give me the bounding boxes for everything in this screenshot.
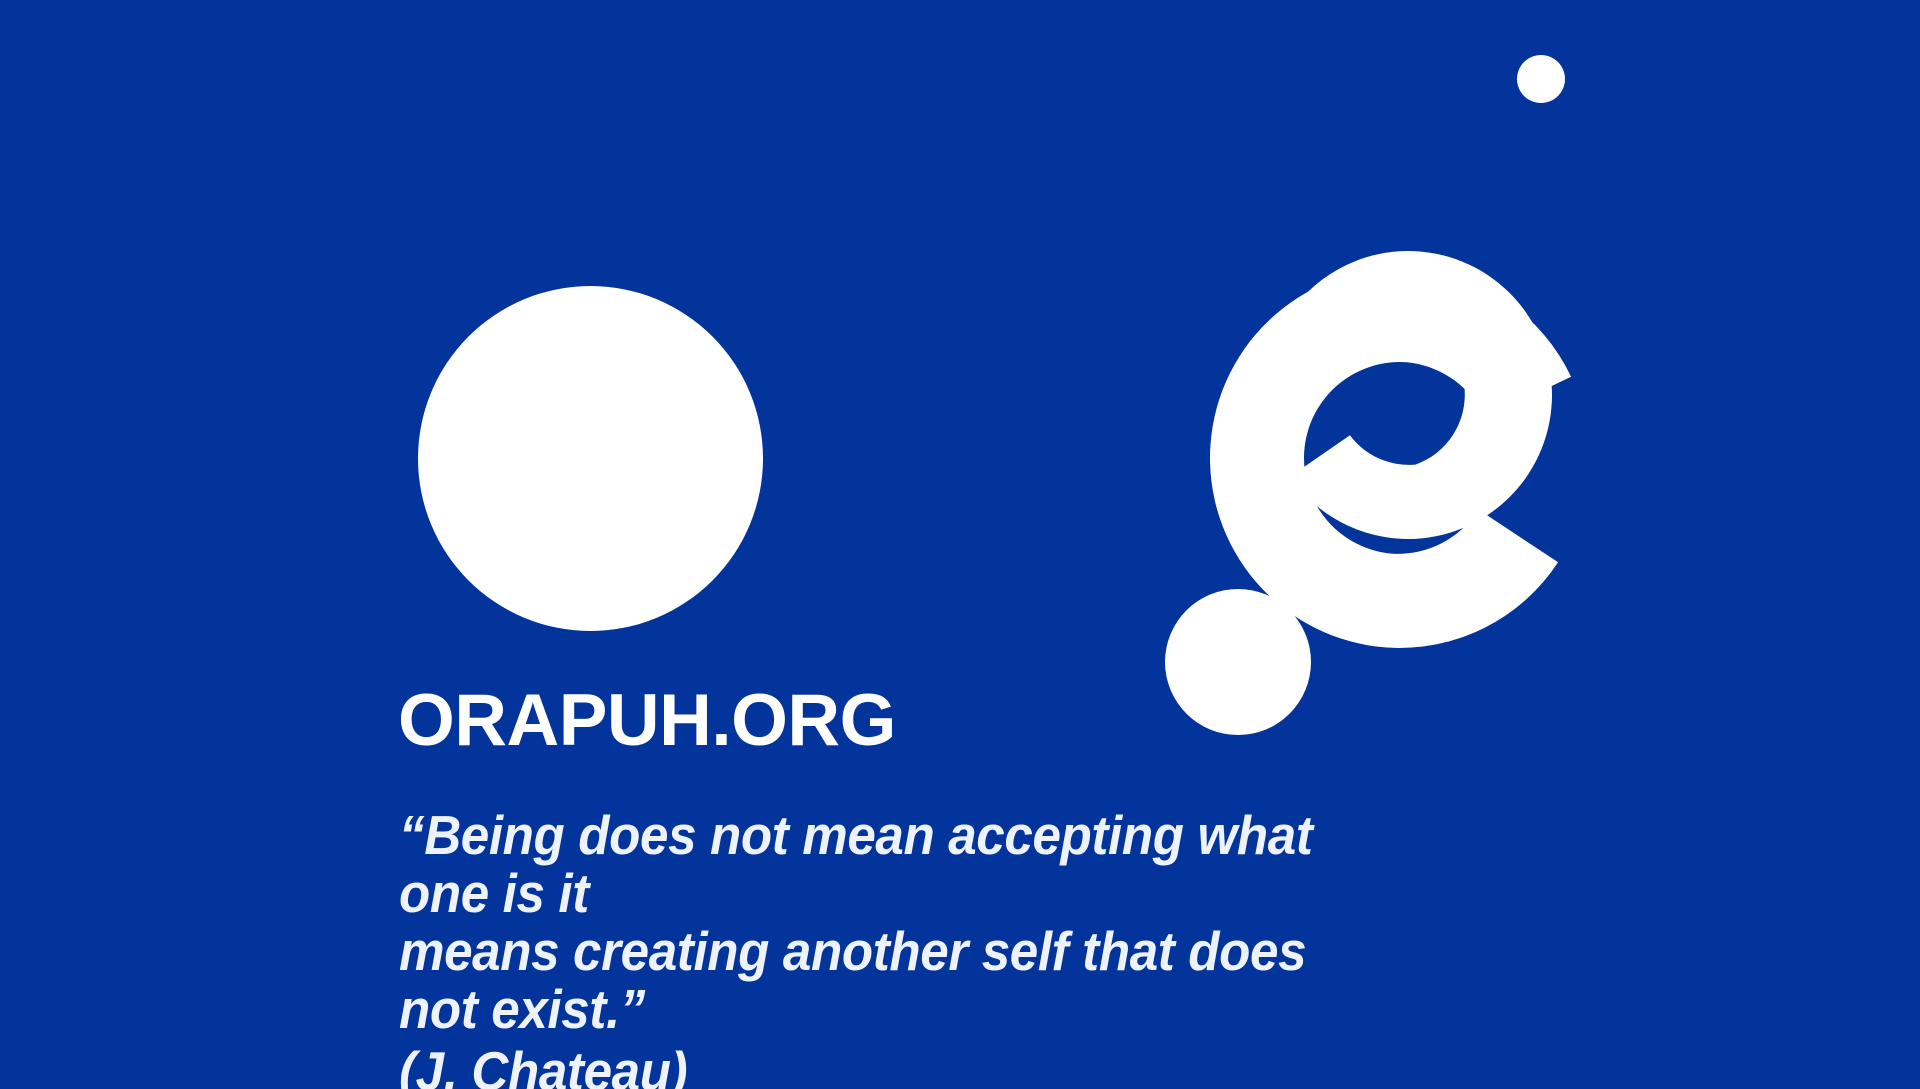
quotation-line-2: means creating another self that does no… <box>399 922 1385 1038</box>
quotation-line-1: “Being does not mean accepting what one … <box>399 806 1385 922</box>
quotation-block: “Being does not mean accepting what one … <box>399 806 1459 1089</box>
tiny-circle-decoration <box>1517 55 1565 103</box>
orapuh-logo-mark <box>1180 240 1600 670</box>
quotation-attribution: (J. Chateau) <box>399 1042 1385 1089</box>
brand-slide: ORAPUH.ORG “Being does not mean acceptin… <box>0 0 1920 1089</box>
brand-wordmark: ORAPUH.ORG <box>398 684 896 757</box>
large-circle-decoration <box>418 286 763 631</box>
